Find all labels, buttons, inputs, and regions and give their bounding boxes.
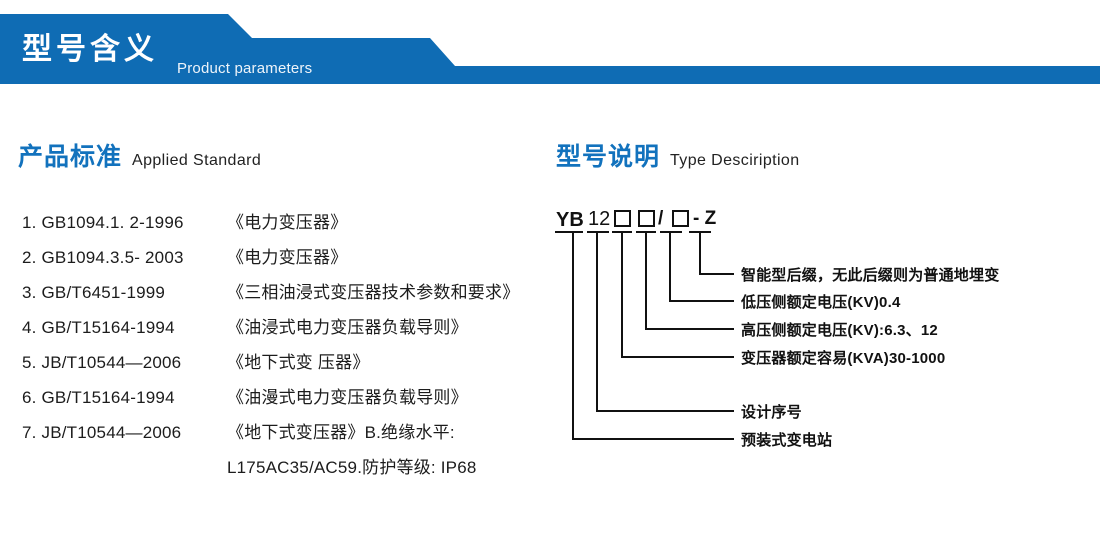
leader-vertical-box2 (645, 231, 647, 330)
list-item: 6. GB/T15164-1994 《油漫式电力变压器负载导则》 (22, 383, 542, 418)
type-description-heading: 型号说明Type Desciription (556, 137, 800, 173)
code-box-glyph (614, 210, 631, 227)
code-underline-12 (587, 231, 609, 233)
type-description-heading-cn: 型号说明 (556, 143, 660, 171)
banner-subtitle: Product parameters (177, 60, 312, 77)
code-segment-yb: YB (556, 208, 584, 232)
leader-horizontal-box1 (621, 356, 734, 358)
leader-vertical-yb (572, 231, 574, 440)
standard-title: 《电力变压器》 (227, 208, 347, 233)
list-item: 1. GB1094.1. 2-1996 《电力变压器》 (22, 208, 542, 243)
standard-title: 《油漫式电力变压器负载导则》 (227, 383, 468, 408)
standard-code: 1. GB1094.1. 2-1996 (22, 213, 227, 233)
standard-title: 《电力变压器》 (227, 243, 347, 268)
leader-horizontal-box2 (645, 328, 734, 330)
standard-code: 7. JB/T10544—2006 (22, 423, 227, 443)
code-segment-12: 12 (588, 207, 610, 231)
code-box-glyph (672, 210, 689, 227)
descriptor-design-serial: 设计序号 (741, 401, 802, 422)
leader-vertical-12 (596, 231, 598, 412)
descriptor-lv-voltage: 低压侧额定电压(KV)0.4 (741, 291, 900, 312)
leader-vertical-suffix (699, 231, 701, 275)
standard-title: 《油浸式电力变压器负载导则》 (227, 313, 468, 338)
descriptor-smart-suffix: 智能型后缀，无此后缀则为普通地埋变 (741, 264, 999, 285)
standard-title: 《地下式变 压器》 (227, 348, 370, 373)
code-underline-yb (555, 231, 583, 233)
page-banner: 型号含义 Product parameters (0, 14, 1100, 84)
code-segment-suffix: - Z (693, 207, 716, 231)
banner-title: 型号含义 (22, 33, 158, 67)
leader-horizontal-box3 (669, 300, 734, 302)
leader-vertical-box3 (669, 231, 671, 302)
list-item: 2. GB1094.3.5- 2003 《电力变压器》 (22, 243, 542, 278)
banner-shape (0, 14, 1100, 84)
code-segment-slash: / (658, 207, 663, 231)
list-item: 5. JB/T10544—2006 《地下式变 压器》 (22, 348, 542, 383)
standard-code: 4. GB/T15164-1994 (22, 318, 227, 338)
list-item: 3. GB/T6451-1999 《三相油浸式变压器技术参数和要求》 (22, 278, 542, 313)
standard-code: 2. GB1094.3.5- 2003 (22, 248, 227, 268)
applied-standard-heading-en: Applied Standard (132, 152, 261, 169)
standard-code: 5. JB/T10544—2006 (22, 353, 227, 373)
standard-title: 《地下式变压器》B.绝缘水平: (227, 418, 455, 443)
applied-standard-heading: 产品标准Applied Standard (18, 137, 261, 173)
type-code-diagram: YB 12 / - Z 智能型后缀，无此后缀则为普通地埋变 低压侧额定电压(KV… (548, 206, 1088, 466)
list-item-continuation: L175AC35/AC59.防护等级: IP68 (22, 453, 542, 491)
leader-horizontal-suffix (699, 273, 734, 275)
code-box-glyph (638, 210, 655, 227)
code-underline-box3 (660, 231, 682, 233)
list-item: 4. GB/T15164-1994 《油浸式电力变压器负载导则》 (22, 313, 542, 348)
list-item: 7. JB/T10544—2006 《地下式变压器》B.绝缘水平: (22, 418, 542, 453)
applied-standard-heading-cn: 产品标准 (18, 143, 122, 171)
standard-title-continuation: L175AC35/AC59.防护等级: IP68 (227, 453, 477, 478)
standards-list: 1. GB1094.1. 2-1996 《电力变压器》 2. GB1094.3.… (22, 208, 542, 491)
descriptor-hv-voltage: 高压侧额定电压(KV):6.3、12 (741, 319, 938, 340)
type-description-heading-en: Type Desciription (670, 152, 800, 169)
standard-code: 3. GB/T6451-1999 (22, 283, 227, 303)
leader-horizontal-yb (572, 438, 734, 440)
standard-code: 6. GB/T15164-1994 (22, 388, 227, 408)
descriptor-rated-capacity: 变压器额定容易(KVA)30-1000 (741, 347, 945, 368)
standard-title: 《三相油浸式变压器技术参数和要求》 (227, 278, 519, 303)
leader-vertical-box1 (621, 231, 623, 358)
descriptor-substation-type: 预装式变电站 (741, 429, 832, 450)
leader-horizontal-12 (596, 410, 734, 412)
